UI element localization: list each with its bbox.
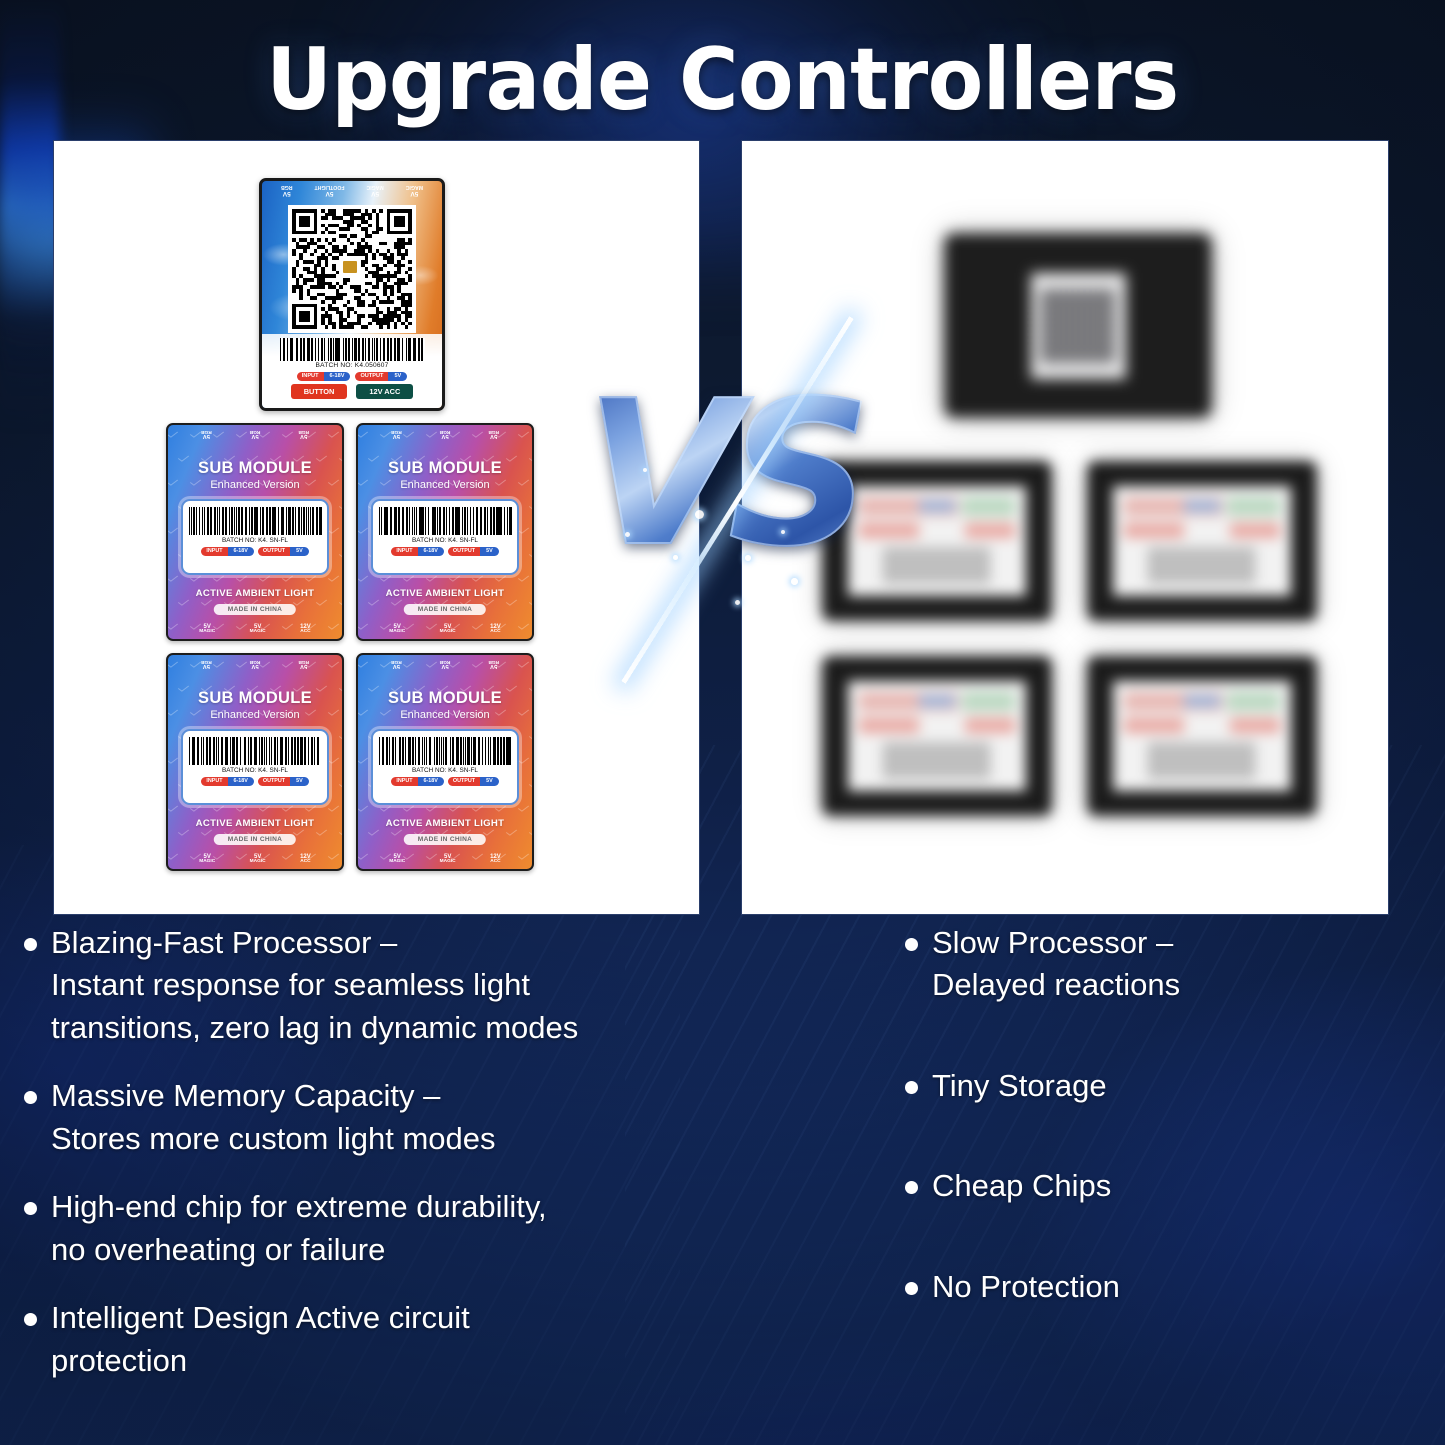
port-label: 5VRGB [488, 658, 499, 669]
sub-module-subtitle: Enhanced Version [168, 709, 342, 721]
sub-module-title: SUB MODULE [168, 459, 342, 478]
port-label: 5VMAGIC [389, 854, 405, 865]
output-value: 5V [388, 372, 407, 381]
bullet-dot-icon [905, 1081, 918, 1094]
input-label: INPUT [201, 777, 227, 786]
port-label: 5VRGB [391, 658, 402, 669]
spec-pill-row: INPUT6-18V OUTPUT5V [189, 547, 321, 556]
list-item: Intelligent Design Active circuit protec… [24, 1297, 714, 1382]
port-voltage: 5V [315, 189, 345, 196]
list-item: Blazing-Fast Processor – Instant respons… [24, 922, 714, 1049]
sub-module-label-card: BATCH NO: K4. SN-FL INPUT6-18V OUTPUT5V [181, 729, 329, 805]
batch-number: BATCH NO: K4. SN-FL [189, 767, 321, 774]
competitor-sub-module [1087, 656, 1317, 816]
cons-text: Cheap Chips [932, 1165, 1111, 1207]
list-item: Massive Memory Capacity – Stores more cu… [24, 1075, 714, 1160]
port-name: MAGIC [199, 860, 215, 865]
sub-module-label-card: BATCH NO: K4. SN-FL INPUT6-18V OUTPUT5V [371, 729, 519, 805]
bullet-dot-icon [905, 1181, 918, 1194]
pros-list: Blazing-Fast Processor – Instant respons… [24, 922, 714, 1408]
port-label: 12VACC [300, 854, 311, 865]
bullet-dot-icon [905, 938, 918, 951]
pros-text: Intelligent Design Active circuit protec… [51, 1297, 470, 1382]
spec-pill-row: INPUT6-18V OUTPUT5V [379, 547, 511, 556]
page-title: Upgrade Controllers [43, 30, 1401, 130]
cons-list: Slow Processor – Delayed reactions Tiny … [905, 922, 1425, 1366]
sub-module-footer-title: ACTIVE AMBIENT LIGHT [168, 818, 342, 829]
made-in-badge: MADE IN CHINA [214, 604, 296, 615]
port-label: 5VRGB [250, 428, 261, 439]
port-label: 5VMAGIC [250, 624, 266, 635]
port-name: MAGIC [406, 184, 423, 189]
port-name: ACC [300, 630, 311, 635]
port-label: 5VMAGIC [440, 624, 456, 635]
port-label: 5VRGB [250, 658, 261, 669]
comparison-bullets: Blazing-Fast Processor – Instant respons… [0, 922, 1445, 1445]
barcode-icon [379, 737, 511, 765]
sub-module-footer-title: ACTIVE AMBIENT LIGHT [358, 588, 532, 599]
port-voltage: 5V [366, 189, 383, 196]
output-label: OUTPUT [448, 547, 480, 556]
output-value: 5V [290, 777, 309, 786]
acc-connector-tag: 12V ACC [356, 384, 413, 399]
competitor-sub-module [1087, 461, 1317, 621]
port-name: ACC [300, 860, 311, 865]
barcode-icon [189, 507, 321, 535]
output-spec-pill: OUTPUT5V [258, 547, 309, 556]
sub-port-labels-top: 5VRGB 5VRGB 5VRGB [358, 428, 532, 439]
port-label: 5VRGB [440, 658, 451, 669]
list-item: No Protection [905, 1266, 1425, 1308]
output-label: OUTPUT [448, 777, 480, 786]
barcode-icon [379, 507, 511, 535]
sub-module-card: 5VRGB 5VRGB 5VRGB SUB MODULE Enhanced Ve… [166, 653, 344, 871]
button-connector-tag: BUTTON [291, 384, 348, 399]
bullet-dot-icon [905, 1282, 918, 1295]
input-label: INPUT [201, 547, 227, 556]
controller-label-area: BATCH NO: K4.050607 INPUT 6-18V OUTPUT 5… [262, 334, 442, 408]
port-name: ACC [490, 630, 501, 635]
sub-port-labels-top: 5VRGB 5VRGB 5VRGB [168, 658, 342, 669]
batch-number: BATCH NO: K4. SN-FL [189, 537, 321, 544]
main-controller-card: 5V MAGIC 5V MAGIC 5V FOOTLIGHT 5V RGB [259, 178, 445, 411]
input-spec-pill: INPUT6-18V [391, 777, 444, 786]
port-name: MAGIC [366, 184, 383, 189]
port-label: 5VRGB [298, 428, 309, 439]
port-label: 5VMAGIC [389, 624, 405, 635]
sub-module-footer-title: ACTIVE AMBIENT LIGHT [168, 588, 342, 599]
port-label: 5VRGB [440, 428, 451, 439]
port-label: 12VACC [300, 624, 311, 635]
input-label: INPUT [391, 547, 417, 556]
output-label: OUTPUT [258, 547, 290, 556]
port-label: 5V FOOTLIGHT [315, 184, 345, 196]
port-label: 5VMAGIC [199, 854, 215, 865]
sub-module-subtitle: Enhanced Version [168, 479, 342, 491]
port-label: 5V MAGIC [406, 184, 423, 196]
sub-module-label-card: BATCH NO: K4. SN-FL INPUT6-18V OUTPUT5V [371, 499, 519, 575]
sub-module-card: 5VRGB 5VRGB 5VRGB SUB MODULE Enhanced Ve… [166, 423, 344, 641]
port-label: 5VMAGIC [440, 854, 456, 865]
connector-tag-row: BUTTON 12V ACC [268, 384, 436, 399]
vs-label: VS [585, 380, 860, 570]
competitor-sub-module [822, 656, 1052, 816]
port-label: 5VRGB [298, 658, 309, 669]
port-name: RGB [250, 658, 261, 663]
sub-port-labels-bottom: 5VMAGIC 5VMAGIC 12VACC [358, 854, 532, 865]
cons-text: No Protection [932, 1266, 1120, 1308]
port-label: 5VRGB [391, 428, 402, 439]
bullet-dot-icon [24, 1091, 37, 1104]
sub-module-title: SUB MODULE [358, 689, 532, 708]
output-value: 5V [290, 547, 309, 556]
port-name: MAGIC [250, 630, 266, 635]
vs-badge: VS [585, 380, 860, 610]
controller-port-labels: 5V MAGIC 5V MAGIC 5V FOOTLIGHT 5V RGB [262, 184, 442, 196]
spec-pill-row: INPUT6-18V OUTPUT5V [189, 777, 321, 786]
port-name: FOOTLIGHT [315, 184, 345, 189]
input-label: INPUT [391, 777, 417, 786]
barcode-icon [280, 338, 425, 361]
output-label: OUTPUT [355, 372, 388, 381]
input-value: 6-18V [228, 777, 254, 786]
output-value: 5V [480, 547, 499, 556]
list-item: Tiny Storage [905, 1065, 1425, 1107]
port-label: 5VMAGIC [199, 624, 215, 635]
spec-pill-row: INPUT 6-18V OUTPUT 5V [268, 372, 436, 381]
port-name: RGB [488, 428, 499, 433]
qr-code-icon [288, 205, 416, 333]
input-value: 6-18V [324, 372, 351, 381]
port-name: RGB [250, 428, 261, 433]
pros-text: High-end chip for extreme durability, no… [51, 1186, 547, 1271]
sub-module-title: SUB MODULE [168, 689, 342, 708]
bullet-dot-icon [24, 938, 37, 951]
port-label: 5VRGB [201, 428, 212, 439]
port-label: 5VRGB [201, 658, 212, 669]
batch-number: BATCH NO: K4.050607 [268, 362, 436, 369]
port-name: MAGIC [440, 860, 456, 865]
input-label: INPUT [297, 372, 324, 381]
output-value: 5V [480, 777, 499, 786]
output-spec-pill: OUTPUT5V [258, 777, 309, 786]
list-item: High-end chip for extreme durability, no… [24, 1186, 714, 1271]
input-spec-pill: INPUT6-18V [201, 777, 254, 786]
port-name: RGB [391, 428, 402, 433]
port-name: RGB [298, 658, 309, 663]
input-value: 6-18V [418, 777, 444, 786]
port-name: RGB [298, 428, 309, 433]
output-spec-pill: OUTPUT5V [448, 777, 499, 786]
port-label: 5VMAGIC [250, 854, 266, 865]
port-voltage: 5V [406, 189, 423, 196]
port-voltage: 5V [281, 189, 293, 196]
qr-code-icon [1041, 289, 1115, 363]
batch-number: BATCH NO: K4. SN-FL [379, 767, 511, 774]
made-in-badge: MADE IN CHINA [404, 604, 486, 615]
input-value: 6-18V [228, 547, 254, 556]
port-name: MAGIC [389, 630, 405, 635]
sub-module-subtitle: Enhanced Version [358, 479, 532, 491]
port-label: 12VACC [490, 854, 501, 865]
sub-module-title: SUB MODULE [358, 459, 532, 478]
batch-number: BATCH NO: K4. SN-FL [379, 537, 511, 544]
bullet-dot-icon [24, 1313, 37, 1326]
sub-port-labels-bottom: 5VMAGIC 5VMAGIC 12VACC [168, 624, 342, 635]
competitor-main-controller [944, 233, 1212, 418]
bullet-dot-icon [24, 1202, 37, 1215]
output-spec-pill: OUTPUT5V [448, 547, 499, 556]
cons-text: Tiny Storage [932, 1065, 1107, 1107]
sub-module-subtitle: Enhanced Version [358, 709, 532, 721]
port-name: RGB [440, 658, 451, 663]
port-name: RGB [440, 428, 451, 433]
spec-pill-row: INPUT6-18V OUTPUT5V [379, 777, 511, 786]
port-name: MAGIC [440, 630, 456, 635]
sub-port-labels-top: 5VRGB 5VRGB 5VRGB [168, 428, 342, 439]
output-spec-pill: OUTPUT 5V [355, 372, 407, 381]
input-spec-pill: INPUT6-18V [201, 547, 254, 556]
output-label: OUTPUT [258, 777, 290, 786]
port-name: RGB [201, 658, 212, 663]
cons-text: Slow Processor – Delayed reactions [932, 922, 1180, 1007]
sub-port-labels-top: 5VRGB 5VRGB 5VRGB [358, 658, 532, 669]
port-name: RGB [201, 428, 212, 433]
port-name: MAGIC [250, 860, 266, 865]
port-label: 5VRGB [488, 428, 499, 439]
input-spec-pill: INPUT 6-18V [297, 372, 351, 381]
pros-text: Blazing-Fast Processor – Instant respons… [51, 922, 578, 1049]
port-name: MAGIC [199, 630, 215, 635]
sub-port-labels-bottom: 5VMAGIC 5VMAGIC 12VACC [168, 854, 342, 865]
port-name: ACC [490, 860, 501, 865]
sub-module-card: 5VRGB 5VRGB 5VRGB SUB MODULE Enhanced Ve… [356, 423, 534, 641]
list-item: Slow Processor – Delayed reactions [905, 922, 1425, 1007]
list-item: Cheap Chips [905, 1165, 1425, 1207]
sub-module-card: 5VRGB 5VRGB 5VRGB SUB MODULE Enhanced Ve… [356, 653, 534, 871]
port-name: MAGIC [389, 860, 405, 865]
sub-module-label-card: BATCH NO: K4. SN-FL INPUT6-18V OUTPUT5V [181, 499, 329, 575]
port-name: RGB [391, 658, 402, 663]
input-value: 6-18V [418, 547, 444, 556]
sub-port-labels-bottom: 5VMAGIC 5VMAGIC 12VACC [358, 624, 532, 635]
made-in-badge: MADE IN CHINA [214, 834, 296, 845]
pros-text: Massive Memory Capacity – Stores more cu… [51, 1075, 496, 1160]
sub-module-footer-title: ACTIVE AMBIENT LIGHT [358, 818, 532, 829]
port-name: RGB [281, 184, 293, 189]
port-name: RGB [488, 658, 499, 663]
port-label: 5V RGB [281, 184, 293, 196]
made-in-badge: MADE IN CHINA [404, 834, 486, 845]
port-label: 5V MAGIC [366, 184, 383, 196]
port-label: 12VACC [490, 624, 501, 635]
barcode-icon [189, 737, 321, 765]
input-spec-pill: INPUT6-18V [391, 547, 444, 556]
